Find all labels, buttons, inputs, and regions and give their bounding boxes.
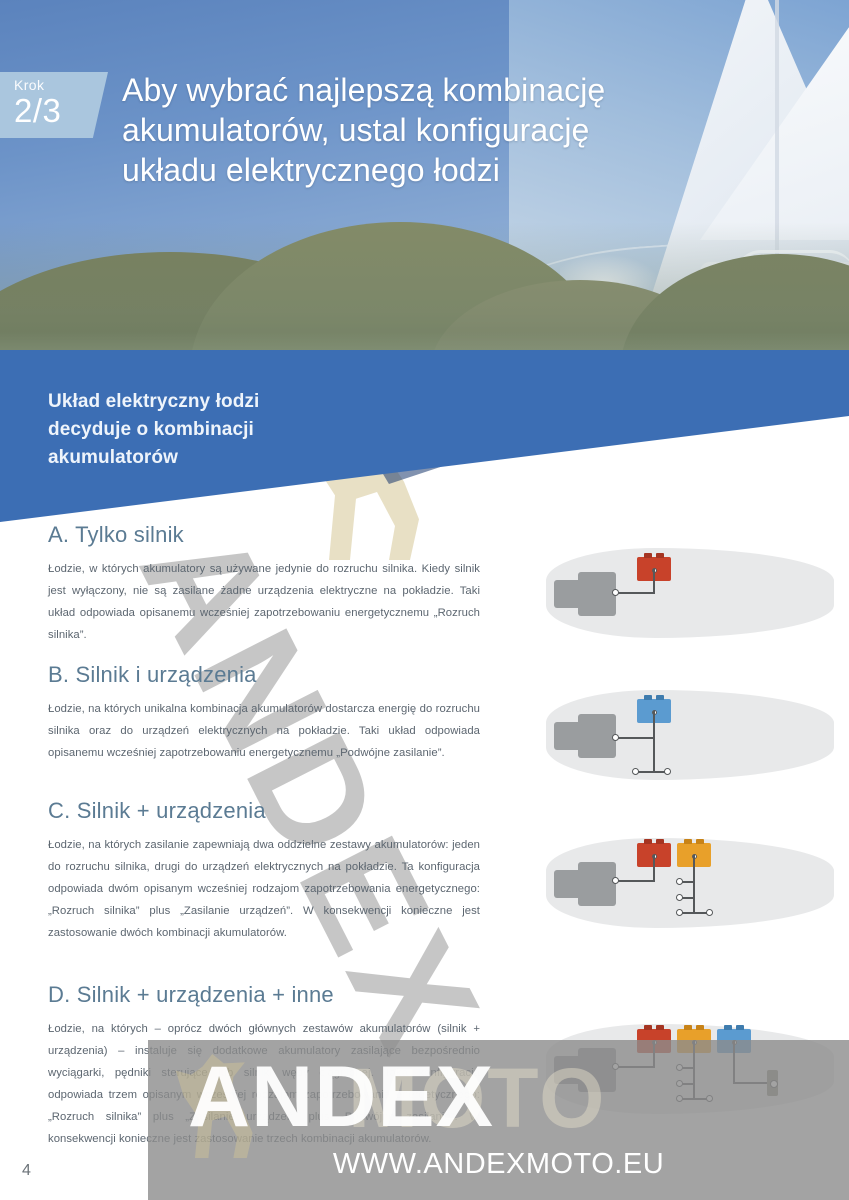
- battery-terminal-left: [644, 553, 652, 558]
- step-badge: Krok 2/3: [0, 72, 108, 138]
- step-badge-label: Krok: [14, 78, 108, 93]
- footer-overlay: MOTO ANDEX WWW.ANDEXMOTO.EU: [148, 1040, 849, 1200]
- page-number: 4: [22, 1162, 31, 1180]
- wire-device-branch-1: [681, 881, 695, 883]
- battery-terminal-right: [656, 1025, 664, 1030]
- section-b: B. Silnik i urządzenia Łodzie, na któryc…: [48, 662, 480, 764]
- battery-terminal-right: [696, 839, 704, 844]
- wire-device-bus: [637, 771, 667, 773]
- engine-outdrive: [554, 580, 582, 608]
- section-b-body: Łodzie, na których unikalna kombinacja a…: [48, 698, 480, 764]
- device-terminal-4: [706, 909, 713, 916]
- subtitle-line-2: decyduje o kombinacji: [48, 416, 378, 444]
- page-title: Aby wybrać najlepszą kombinację akumulat…: [122, 70, 682, 190]
- battery-terminal-right: [736, 1025, 744, 1030]
- page-title-line-1: Aby wybrać najlepszą kombinację: [122, 70, 682, 110]
- boat-diagram-dual-purpose: [524, 686, 834, 796]
- battery-terminal-left: [644, 695, 652, 700]
- battery-terminal-right: [656, 695, 664, 700]
- engine-terminal-node: [612, 734, 619, 741]
- engine-terminal-node: [612, 877, 619, 884]
- page-title-line-3: układu elektrycznego łodzi: [122, 150, 682, 190]
- section-a-body: Łodzie, w których akumulatory są używane…: [48, 558, 480, 646]
- section-c: C. Silnik + urządzenia Łodzie, na któryc…: [48, 798, 480, 944]
- device-terminal-2: [676, 894, 683, 901]
- battery-terminal-left: [724, 1025, 732, 1030]
- device-terminal-1: [676, 878, 683, 885]
- wire-to-engine: [616, 592, 655, 594]
- wire-bus-vertical: [653, 711, 655, 773]
- section-a-heading: A. Tylko silnik: [48, 522, 480, 548]
- subtitle-line-3: akumulatorów: [48, 444, 378, 472]
- wire-to-engine: [616, 880, 655, 882]
- engine-terminal-node: [612, 589, 619, 596]
- section-b-heading: B. Silnik i urządzenia: [48, 662, 480, 688]
- battery-terminal-left: [644, 839, 652, 844]
- subtitle-text: Układ elektryczny łodzi decyduje o kombi…: [48, 388, 378, 472]
- wire-device-branch-2: [681, 897, 695, 899]
- wire-vertical: [653, 569, 655, 593]
- wire-red-vertical: [653, 855, 655, 881]
- subtitle-banner: Układ elektryczny łodzi decyduje o kombi…: [0, 350, 849, 522]
- device-terminal-3: [676, 909, 683, 916]
- battery-terminal-left: [684, 839, 692, 844]
- device-terminal-1: [632, 768, 639, 775]
- section-d-heading: D. Silnik + urządzenia + inne: [48, 982, 480, 1008]
- wire-device-branch-3: [681, 912, 709, 914]
- page-title-line-2: akumulatorów, ustal konfigurację: [122, 110, 682, 150]
- section-c-body: Łodzie, na których zasilanie zapewniają …: [48, 834, 480, 944]
- device-terminal-2: [664, 768, 671, 775]
- subtitle-line-1: Układ elektryczny łodzi: [48, 388, 378, 416]
- boat-diagram-engine-plus-devices: [524, 832, 834, 947]
- battery-terminal-left: [644, 1025, 652, 1030]
- battery-terminal-right: [696, 1025, 704, 1030]
- wire-to-engine: [616, 737, 655, 739]
- footer-website-url[interactable]: WWW.ANDEXMOTO.EU: [148, 1148, 849, 1181]
- battery-terminal-right: [656, 553, 664, 558]
- section-c-heading: C. Silnik + urządzenia: [48, 798, 480, 824]
- engine-block: [578, 714, 616, 758]
- step-badge-value: 2/3: [14, 93, 108, 129]
- battery-terminal-left: [684, 1025, 692, 1030]
- engine-block: [578, 572, 616, 616]
- battery-terminal-right: [656, 839, 664, 844]
- document-page: Krok 2/3 Aby wybrać najlepszą kombinację…: [0, 0, 849, 1200]
- engine-outdrive: [554, 722, 582, 750]
- engine-block: [578, 862, 616, 906]
- footer-watermark-primary: ANDEX: [188, 1048, 494, 1147]
- section-a: A. Tylko silnik Łodzie, w których akumul…: [48, 522, 480, 646]
- wire-orange-bus-vertical: [693, 855, 695, 913]
- boat-diagram-engine-only: [524, 540, 834, 650]
- engine-outdrive: [554, 870, 582, 898]
